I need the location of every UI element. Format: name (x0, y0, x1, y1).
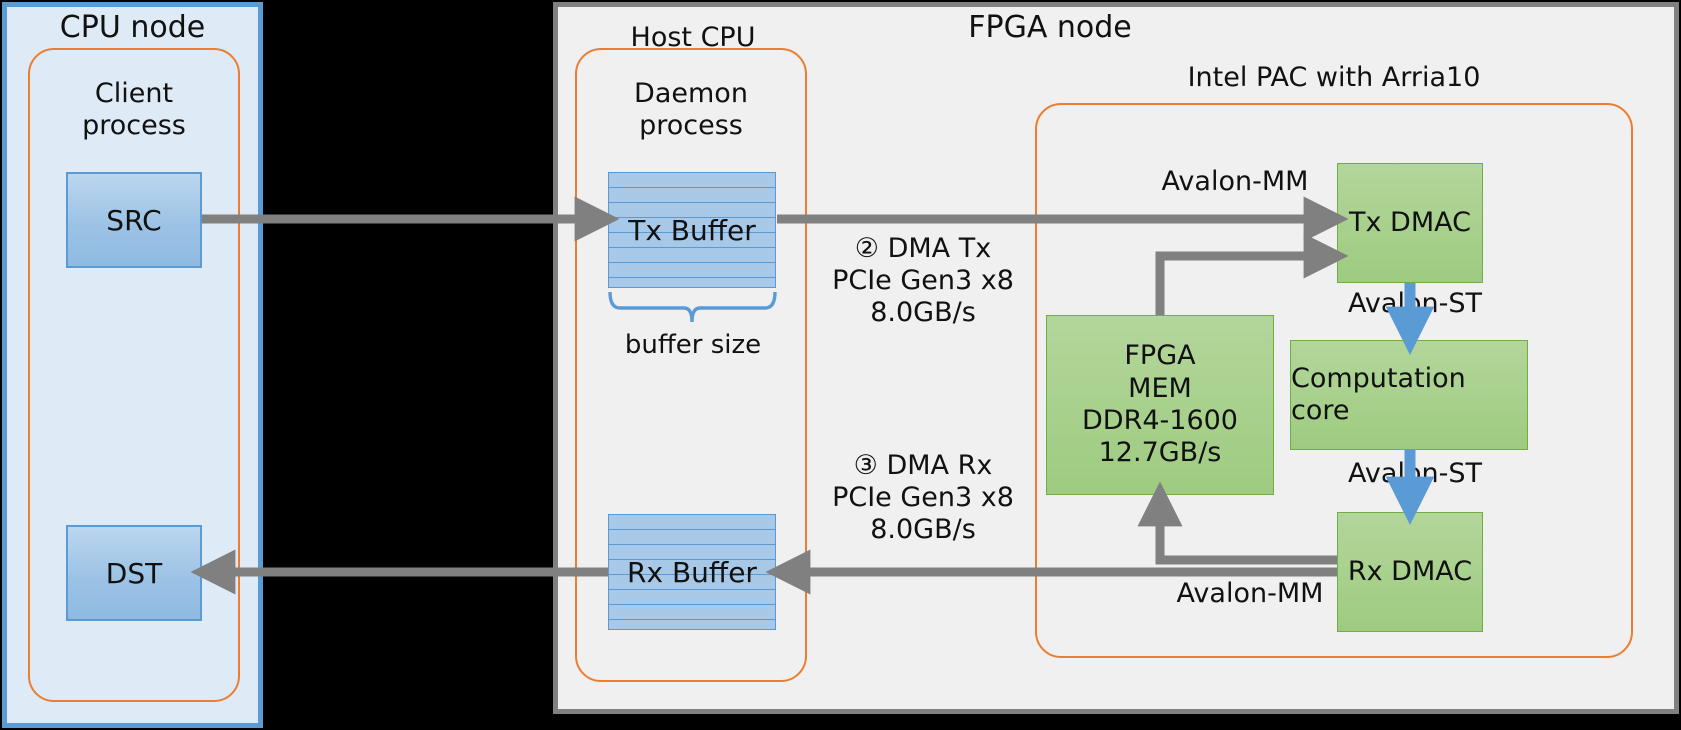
client-process-label: Client process (28, 78, 240, 142)
buffer-size-label: buffer size (598, 330, 788, 361)
rx-buffer-box: Rx Buffer (608, 514, 776, 630)
intel-pac-title: Intel PAC with Arria10 (1035, 62, 1633, 94)
rx-buffer-label: Rx Buffer (627, 556, 757, 589)
avalon-mm-bottom-label: Avalon-MM (1150, 578, 1350, 610)
fpga-mem-line-1: FPGA (1124, 340, 1195, 372)
tx-dmac-box: Tx DMAC (1337, 163, 1483, 283)
tx-buffer-label: Tx Buffer (628, 214, 756, 247)
avalon-mm-top-label: Avalon-MM (1135, 166, 1335, 198)
fpga-mem-line-3: DDR4-1600 (1082, 405, 1238, 437)
fpga-mem-line-2: MEM (1128, 373, 1192, 405)
tx-buffer-box: Tx Buffer (608, 172, 776, 288)
fpga-node-title: FPGA node (900, 10, 1200, 45)
diagram-canvas: CPU node Client process SRC DST FPGA nod… (0, 0, 1681, 730)
fpga-mem-line-4: 12.7GB/s (1099, 437, 1222, 469)
fpga-mem-box: FPGA MEM DDR4-1600 12.7GB/s (1046, 315, 1274, 495)
cpu-node-title: CPU node (2, 10, 263, 45)
avalon-st-top-label: Avalon-ST (1325, 288, 1505, 320)
avalon-st-bottom-label: Avalon-ST (1325, 458, 1505, 490)
src-box: SRC (66, 172, 202, 268)
daemon-process-label: Daemon process (575, 78, 807, 142)
rx-dmac-box: Rx DMAC (1337, 512, 1483, 632)
dst-box: DST (66, 525, 202, 621)
dma-tx-annotation: ② DMA Tx PCIe Gen3 x8 8.0GB/s (828, 233, 1018, 329)
dma-rx-annotation: ③ DMA Rx PCIe Gen3 x8 8.0GB/s (828, 450, 1018, 546)
computation-core-box: Computation core (1290, 340, 1528, 450)
